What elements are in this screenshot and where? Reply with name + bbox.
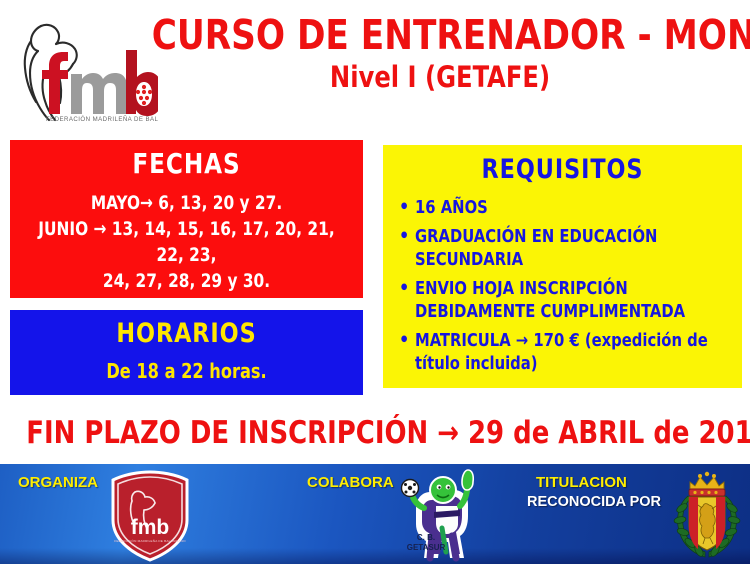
requisito-item: MATRICULA → 170 € (expedición de título … [399, 330, 712, 376]
getasur-line-2: GETASUR [407, 543, 446, 552]
requisito-item: GRADUACIÓN EN EDUCACIÓN SECUNDARIA [399, 226, 712, 272]
crown-icon [689, 472, 725, 496]
csd-royal-crest [672, 466, 742, 562]
poster-root: FEDERACIÓN MADRILEÑA DE BALONMANO CURSO … [0, 0, 750, 564]
getasur-line-1: C. B. [417, 533, 435, 542]
requisito-item: ENVIO HOJA INSCRIPCIÓN DEBIDAMENTE CUMPL… [399, 278, 712, 324]
fmb-letter-m [71, 73, 127, 114]
requisitos-heading: REQUISITOS [407, 153, 719, 187]
page-title: CURSO DE ENTRENADOR - MONITOR [152, 12, 729, 58]
colabora-label: COLABORA [307, 474, 394, 491]
getasur-mascot-logo: C. B. GETASUR [396, 466, 486, 564]
fechas-junio-line-1: JUNIO → 13, 14, 15, 16, 17, 20, 21, 22, … [28, 216, 346, 268]
horarios-heading: HORARIOS [24, 318, 349, 350]
titulacion-label: TITULACION [536, 474, 627, 491]
requisitos-list: 16 AÑOS GRADUACIÓN EN EDUCACIÓN SECUNDAR… [393, 197, 732, 376]
reconocida-por-label: RECONOCIDA POR [527, 494, 661, 510]
deadline-text: FIN PLAZO DE INSCRIPCIÓN → 29 de ABRIL d… [26, 414, 724, 452]
shield-caption: FEDERACIÓN MADRILEÑA DE BALONMANO [114, 538, 186, 543]
fechas-panel: FECHAS MAYO→ 6, 13, 20 y 27. JUNIO → 13,… [10, 140, 363, 298]
fmb-logo-caption: FEDERACIÓN MADRILEÑA DE BALONMANO [46, 116, 158, 123]
horarios-panel: HORARIOS De 18 a 22 horas. [10, 310, 363, 395]
fmb-shield-logo: fmb FEDERACIÓN MADRILEÑA DE BALONMANO [105, 470, 195, 562]
title-block: CURSO DE ENTRENADOR - MONITOR Nivel I (G… [130, 12, 750, 94]
fechas-mayo-line: MAYO→ 6, 13, 20 y 27. [28, 190, 346, 216]
page-subtitle: Nivel I (GETAFE) [152, 60, 729, 94]
requisitos-panel: REQUISITOS 16 AÑOS GRADUACIÓN EN EDUCACI… [383, 145, 742, 388]
fechas-junio-line-2: 24, 27, 28, 29 y 30. [28, 268, 346, 294]
shield-fmb-text: fmb [131, 516, 170, 539]
requisito-item: 16 AÑOS [399, 197, 712, 220]
organiza-label: ORGANIZA [18, 474, 98, 491]
fechas-heading: FECHAS [24, 148, 349, 180]
horarios-text: De 18 a 22 horas. [28, 358, 346, 384]
